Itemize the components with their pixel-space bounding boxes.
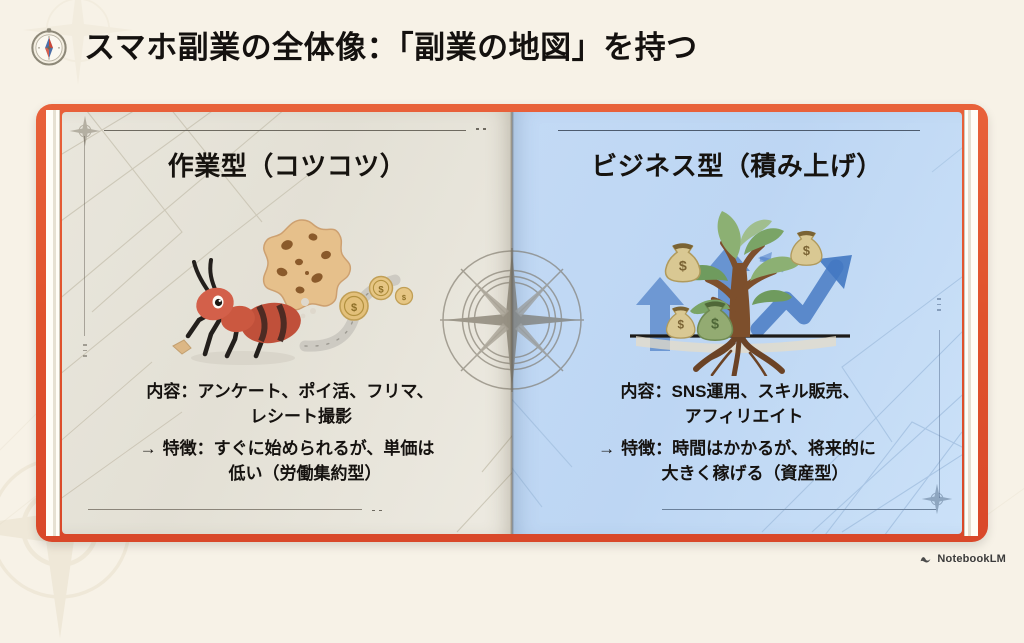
body-text: 特徴：時間はかかるが、将来的に [621, 437, 876, 462]
book-page-edge-right [964, 110, 978, 536]
body-line: 低い（労働集約型） [76, 462, 498, 487]
svg-text:$: $ [711, 317, 719, 333]
body-text: アフィリエイト [685, 405, 804, 430]
panel-rule-bottom-left [88, 509, 362, 510]
money-tree-with-bags-and-growth-arrows-illustration: $ $ $ [512, 196, 962, 381]
book-spine [510, 112, 514, 534]
svg-text:$: $ [677, 319, 684, 332]
book-spread: 作業型（コツコツ） $ $ $ [36, 104, 988, 542]
panel-rule-dots-bottom-left [372, 510, 382, 512]
svg-text:$: $ [678, 258, 686, 274]
slide-header: スマホ副業の全体像：「副業の地図」を持つ [28, 26, 698, 68]
body-line: アフィリエイト [526, 405, 948, 430]
body-text: 内容：SNS運用、スキル販売、 [621, 380, 860, 405]
page-title: スマホ副業の全体像：「副業の地図」を持つ [84, 32, 698, 63]
panel-body-business-type: 内容：SNS運用、スキル販売、 アフィリエイト → 特徴：時間はかかるが、将来的… [526, 380, 948, 487]
panel-heading-work-type: 作業型（コツコツ） [62, 146, 512, 183]
notebooklm-watermark: NotebookLM [919, 552, 1006, 565]
compass-icon [28, 26, 70, 68]
panel-body-work-type: 内容：アンケート、ポイ活、フリマ、 レシート撮影 → 特徴：すぐに始められるが、… [76, 380, 498, 487]
panel-business-type: ビジネス型（積み上げ） [512, 112, 962, 534]
panel-heading-business-type: ビジネス型（積み上げ） [512, 146, 962, 183]
body-line: レシート撮影 [76, 405, 498, 430]
body-text: 内容：アンケート、ポイ活、フリマ、 [146, 380, 433, 405]
body-arrow: → [598, 437, 615, 462]
panel-rule-bottom-right [662, 509, 936, 510]
panel-work-type: 作業型（コツコツ） $ $ $ [62, 112, 512, 534]
panel-rule-top-right [558, 130, 920, 131]
panel-rule-dots-top-left [476, 128, 486, 130]
body-text: レシート撮影 [250, 405, 352, 430]
watermark-label: NotebookLM [937, 553, 1006, 565]
svg-text:$: $ [350, 302, 356, 314]
body-arrow: → [140, 437, 157, 462]
body-line: 大きく稼げる（資産型） [526, 462, 948, 487]
body-text: 特徴：すぐに始められるが、単価は [163, 437, 435, 462]
corner-compass-rose-icon [68, 114, 102, 148]
body-line: 内容：SNS運用、スキル販売、 [526, 380, 948, 405]
corner-compass-rose-icon [920, 482, 954, 516]
book-pages: 作業型（コツコツ） $ $ $ [62, 112, 962, 534]
body-text: 低い（労働集約型） [229, 462, 382, 487]
ant-carrying-cookie-with-coins-illustration: $ $ $ [62, 196, 512, 381]
book-page-edge-left [46, 110, 60, 536]
body-line: 内容：アンケート、ポイ活、フリマ、 [76, 380, 498, 405]
body-text: 大きく稼げる（資産型） [662, 462, 849, 487]
body-line: → 特徴：時間はかかるが、将来的に [526, 437, 948, 462]
svg-text:$: $ [378, 285, 384, 296]
svg-text:$: $ [802, 243, 809, 258]
panel-rule-top-left [104, 130, 466, 131]
notebooklm-logo-icon [919, 552, 932, 565]
body-line: → 特徴：すぐに始められるが、単価は [76, 437, 498, 462]
